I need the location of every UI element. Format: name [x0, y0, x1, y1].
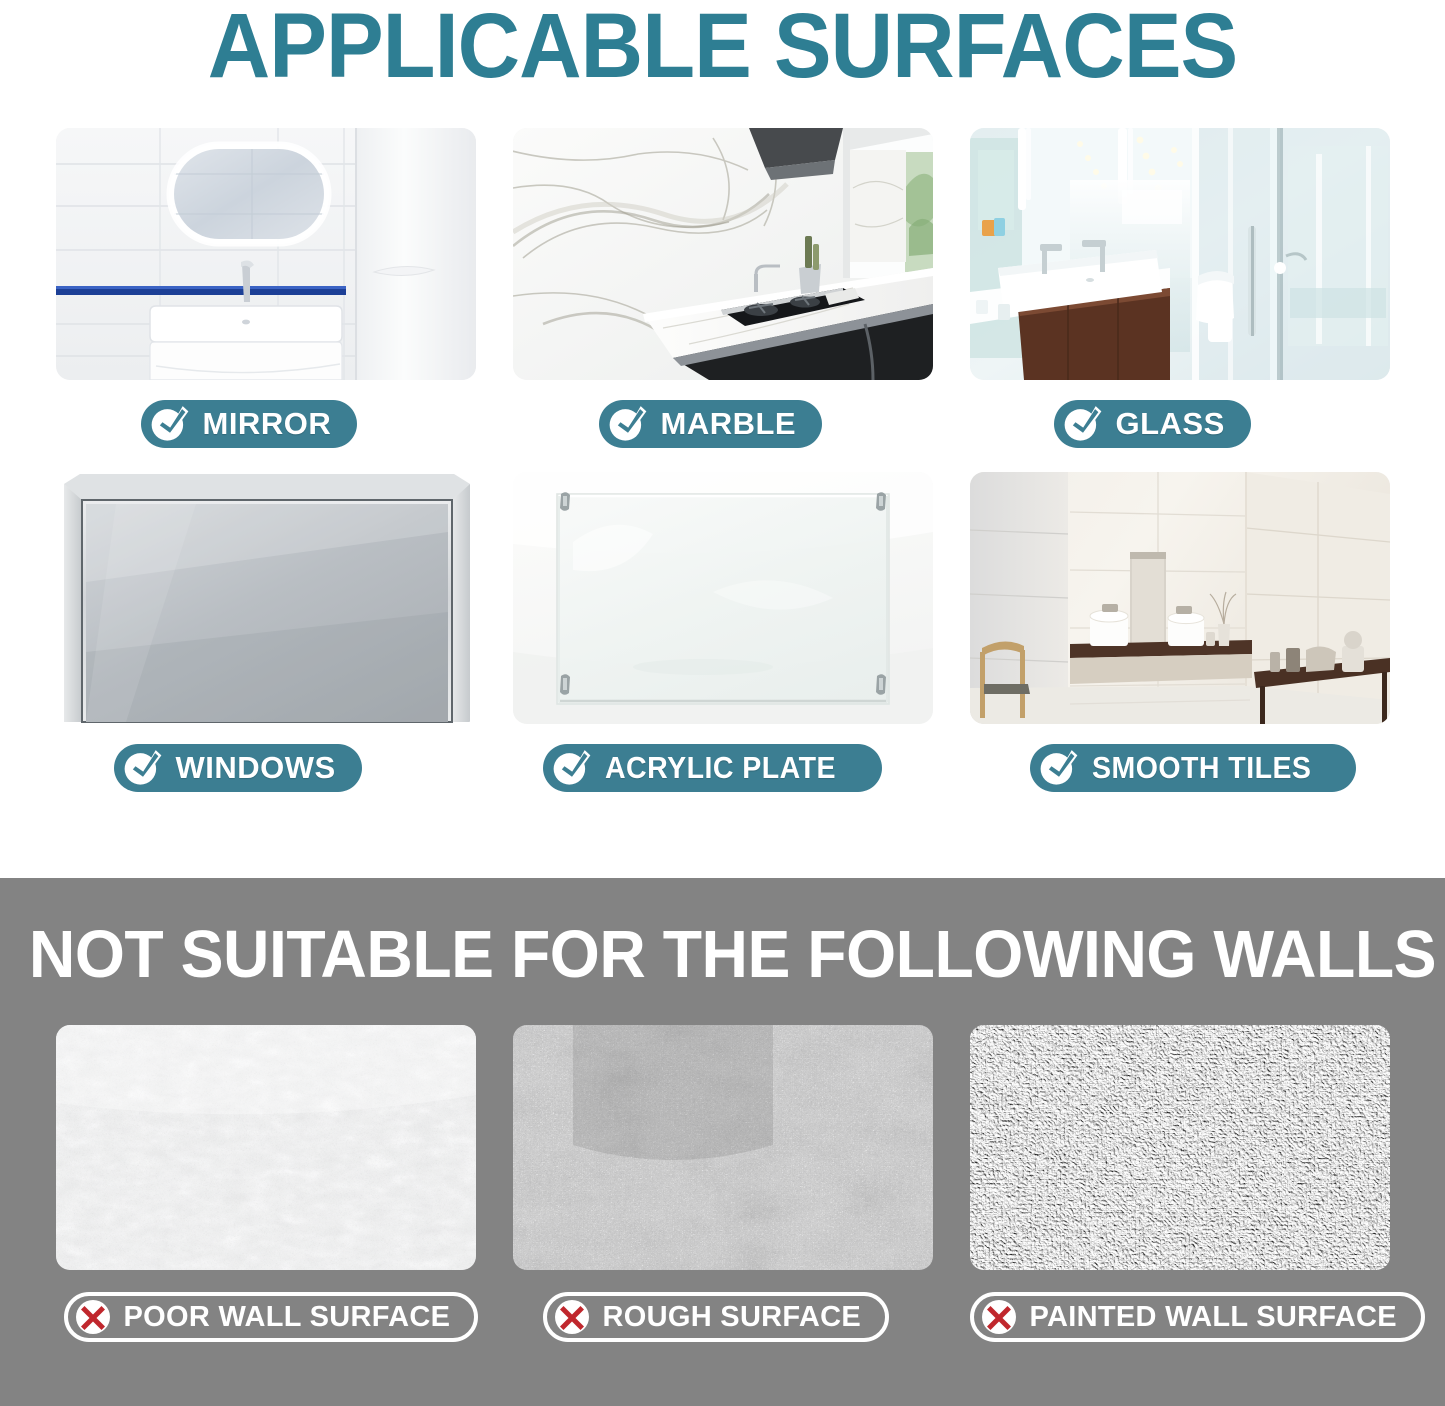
painted-wall-texture [970, 1025, 1390, 1270]
badge-label: WINDOWS [176, 744, 336, 792]
badge-poor-wall-surface[interactable]: POOR WALL SURFACE [64, 1292, 479, 1342]
check-circle-icon [1038, 746, 1080, 790]
marble-photo [513, 128, 933, 380]
x-circle-icon [979, 1297, 1019, 1337]
not-suitable-title: NOT SUITABLE FOR THE FOLLOWING WALLS [29, 920, 1416, 990]
not-suitable-row: POOR WALL SURFACE [0, 1025, 1445, 1342]
applicable-item-marble: MARBLE [513, 128, 933, 448]
smooth-tiles-photo [970, 472, 1390, 724]
badge-wrap-mirror: MIRROR [56, 380, 358, 448]
glass-photo [970, 128, 1390, 380]
not-suitable-item-poor-wall: POOR WALL SURFACE [56, 1025, 476, 1342]
badge-wrap-smooth-tiles: SMOOTH TILES [970, 724, 1357, 792]
badge-label: MARBLE [661, 400, 797, 448]
rough-surface-texture [513, 1025, 933, 1270]
check-circle-icon [149, 402, 191, 446]
badge-label: MIRROR [203, 400, 332, 448]
badge-rough-surface[interactable]: ROUGH SURFACE [543, 1292, 889, 1342]
windows-photo [56, 472, 476, 724]
badge-wrap-windows: WINDOWS [56, 724, 362, 792]
badge-label: ROUGH SURFACE [603, 1296, 861, 1338]
badge-smooth-tiles[interactable]: SMOOTH TILES [1030, 744, 1357, 792]
badge-label: PAINTED WALL SURFACE [1030, 1296, 1397, 1338]
not-suitable-grid: POOR WALL SURFACE [0, 1025, 1445, 1342]
badge-marble[interactable]: MARBLE [599, 400, 823, 448]
check-circle-icon [551, 746, 593, 790]
acrylic-plate-photo [513, 472, 933, 724]
not-suitable-item-rough: ROUGH SURFACE [513, 1025, 933, 1342]
badge-wrap-glass: GLASS [970, 380, 1251, 448]
badge-label: SMOOTH TILES [1092, 744, 1311, 792]
not-suitable-item-painted-wall: PAINTED WALL SURFACE [970, 1025, 1390, 1342]
x-circle-icon [552, 1297, 592, 1337]
applicable-surfaces-infographic: APPLICABLE SURFACES [0, 0, 1445, 1406]
badge-windows[interactable]: WINDOWS [114, 744, 362, 792]
check-circle-icon [607, 402, 649, 446]
badge-wrap-marble: MARBLE [513, 380, 823, 448]
applicable-item-windows: WINDOWS [56, 472, 476, 792]
check-circle-icon [122, 746, 164, 790]
badge-label: POOR WALL SURFACE [124, 1296, 451, 1338]
badge-label: GLASS [1116, 400, 1225, 448]
applicable-row-1: MIRROR [0, 128, 1445, 448]
x-circle-icon [73, 1297, 113, 1337]
applicable-row-2: WINDOWS [0, 472, 1445, 792]
applicable-surfaces-section: APPLICABLE SURFACES [0, 0, 1445, 878]
badge-wrap-rough: ROUGH SURFACE [513, 1270, 889, 1342]
badge-acrylic-plate[interactable]: ACRYLIC PLATE [543, 744, 882, 792]
badge-wrap-painted-wall: PAINTED WALL SURFACE [970, 1270, 1425, 1342]
badge-painted-wall-surface[interactable]: PAINTED WALL SURFACE [970, 1292, 1425, 1342]
badge-wrap-poor-wall: POOR WALL SURFACE [56, 1270, 479, 1342]
applicable-item-smooth-tiles: SMOOTH TILES [970, 472, 1390, 792]
badge-mirror[interactable]: MIRROR [141, 400, 358, 448]
applicable-item-mirror: MIRROR [56, 128, 476, 448]
badge-wrap-acrylic: ACRYLIC PLATE [513, 724, 882, 792]
badge-label: ACRYLIC PLATE [605, 744, 836, 792]
page-title: APPLICABLE SURFACES [43, 0, 1401, 94]
applicable-item-acrylic: ACRYLIC PLATE [513, 472, 933, 792]
poor-wall-texture [56, 1025, 476, 1270]
mirror-photo [56, 128, 476, 380]
applicable-grid: MIRROR [0, 128, 1445, 792]
badge-glass[interactable]: GLASS [1054, 400, 1251, 448]
applicable-item-glass: GLASS [970, 128, 1390, 448]
not-suitable-section: NOT SUITABLE FOR THE FOLLOWING WALLS [0, 878, 1445, 1406]
check-circle-icon [1062, 402, 1104, 446]
